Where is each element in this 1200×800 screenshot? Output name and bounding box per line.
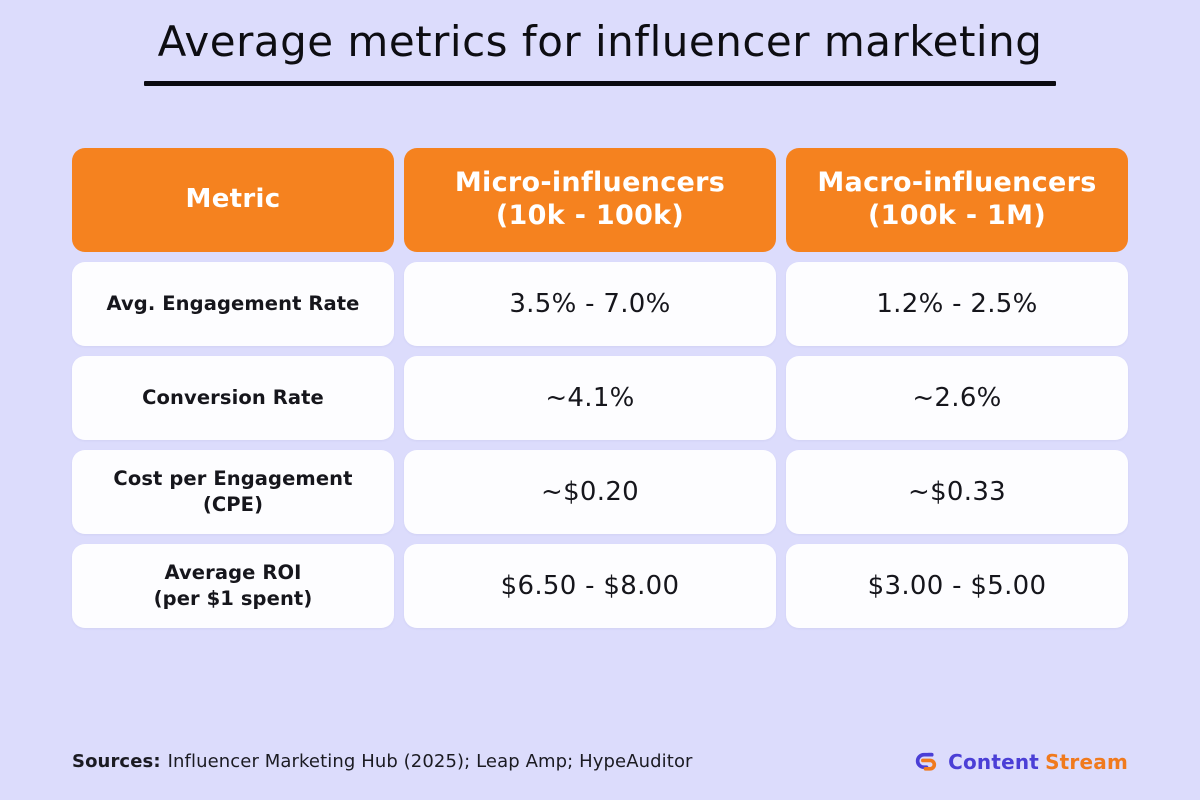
brand-word-stream: Stream <box>1045 750 1128 774</box>
micro-value: ~$0.20 <box>541 477 639 507</box>
infographic-root: Average metrics for influencer marketing… <box>0 0 1200 800</box>
micro-value-cell: ~4.1% <box>404 356 776 440</box>
content-stream-s-logo-icon <box>914 749 939 774</box>
metric-label-cell: Average ROI (per $1 spent) <box>72 544 394 628</box>
table-row: Average ROI (per $1 spent) $6.50 - $8.00… <box>72 544 1128 628</box>
macro-value-cell: ~$0.33 <box>786 450 1128 534</box>
metric-label-cell: Conversion Rate <box>72 356 394 440</box>
header-macro-label: Macro-influencers <box>817 167 1096 198</box>
brand-logo: Content Stream <box>914 749 1128 774</box>
header-cell-micro-influencers: Micro-influencers (10k - 100k) <box>404 148 776 252</box>
table-header-row: Metric Micro-influencers (10k - 100k) Ma… <box>72 148 1128 252</box>
macro-value-cell: $3.00 - $5.00 <box>786 544 1128 628</box>
header-micro-range: (10k - 100k) <box>455 200 725 233</box>
metric-label: Average ROI <box>164 561 301 584</box>
table-row: Cost per Engagement (CPE) ~$0.20 ~$0.33 <box>72 450 1128 534</box>
brand-word-content: Content <box>948 750 1039 774</box>
page-title: Average metrics for influencer marketing <box>158 16 1043 69</box>
metric-label-cell: Avg. Engagement Rate <box>72 262 394 346</box>
metrics-table: Metric Micro-influencers (10k - 100k) Ma… <box>72 148 1128 628</box>
metric-label: Avg. Engagement Rate <box>106 292 359 315</box>
metric-sublabel: (per $1 spent) <box>154 586 313 611</box>
metric-label: Conversion Rate <box>142 386 324 409</box>
header-cell-macro-influencers: Macro-influencers (100k - 1M) <box>786 148 1128 252</box>
macro-value: ~2.6% <box>912 383 1001 413</box>
brand-wordmark: Content Stream <box>948 750 1128 774</box>
sources-line: Sources: Influencer Marketing Hub (2025)… <box>72 751 693 773</box>
footer: Sources: Influencer Marketing Hub (2025)… <box>0 749 1200 774</box>
macro-value: 1.2% - 2.5% <box>876 289 1037 319</box>
macro-value: $3.00 - $5.00 <box>868 571 1047 601</box>
micro-value-cell: $6.50 - $8.00 <box>404 544 776 628</box>
table-row: Conversion Rate ~4.1% ~2.6% <box>72 356 1128 440</box>
macro-value: ~$0.33 <box>908 477 1006 507</box>
micro-value: ~4.1% <box>545 383 634 413</box>
micro-value-cell: 3.5% - 7.0% <box>404 262 776 346</box>
micro-value-cell: ~$0.20 <box>404 450 776 534</box>
header-cell-metric: Metric <box>72 148 394 252</box>
header-micro-label: Micro-influencers <box>455 167 725 198</box>
micro-value: $6.50 - $8.00 <box>501 571 680 601</box>
header-macro-range: (100k - 1M) <box>817 200 1096 233</box>
title-underline-rule <box>144 81 1056 86</box>
micro-value: 3.5% - 7.0% <box>509 289 670 319</box>
title-block: Average metrics for influencer marketing <box>0 16 1200 86</box>
sources-label: Sources: <box>72 751 161 773</box>
metric-label-cell: Cost per Engagement (CPE) <box>72 450 394 534</box>
metric-sublabel: (CPE) <box>113 492 352 517</box>
metric-label: Cost per Engagement <box>113 467 352 490</box>
header-metric-label: Metric <box>186 184 281 216</box>
macro-value-cell: ~2.6% <box>786 356 1128 440</box>
sources-text: Influencer Marketing Hub (2025); Leap Am… <box>168 751 693 773</box>
macro-value-cell: 1.2% - 2.5% <box>786 262 1128 346</box>
table-row: Avg. Engagement Rate 3.5% - 7.0% 1.2% - … <box>72 262 1128 346</box>
